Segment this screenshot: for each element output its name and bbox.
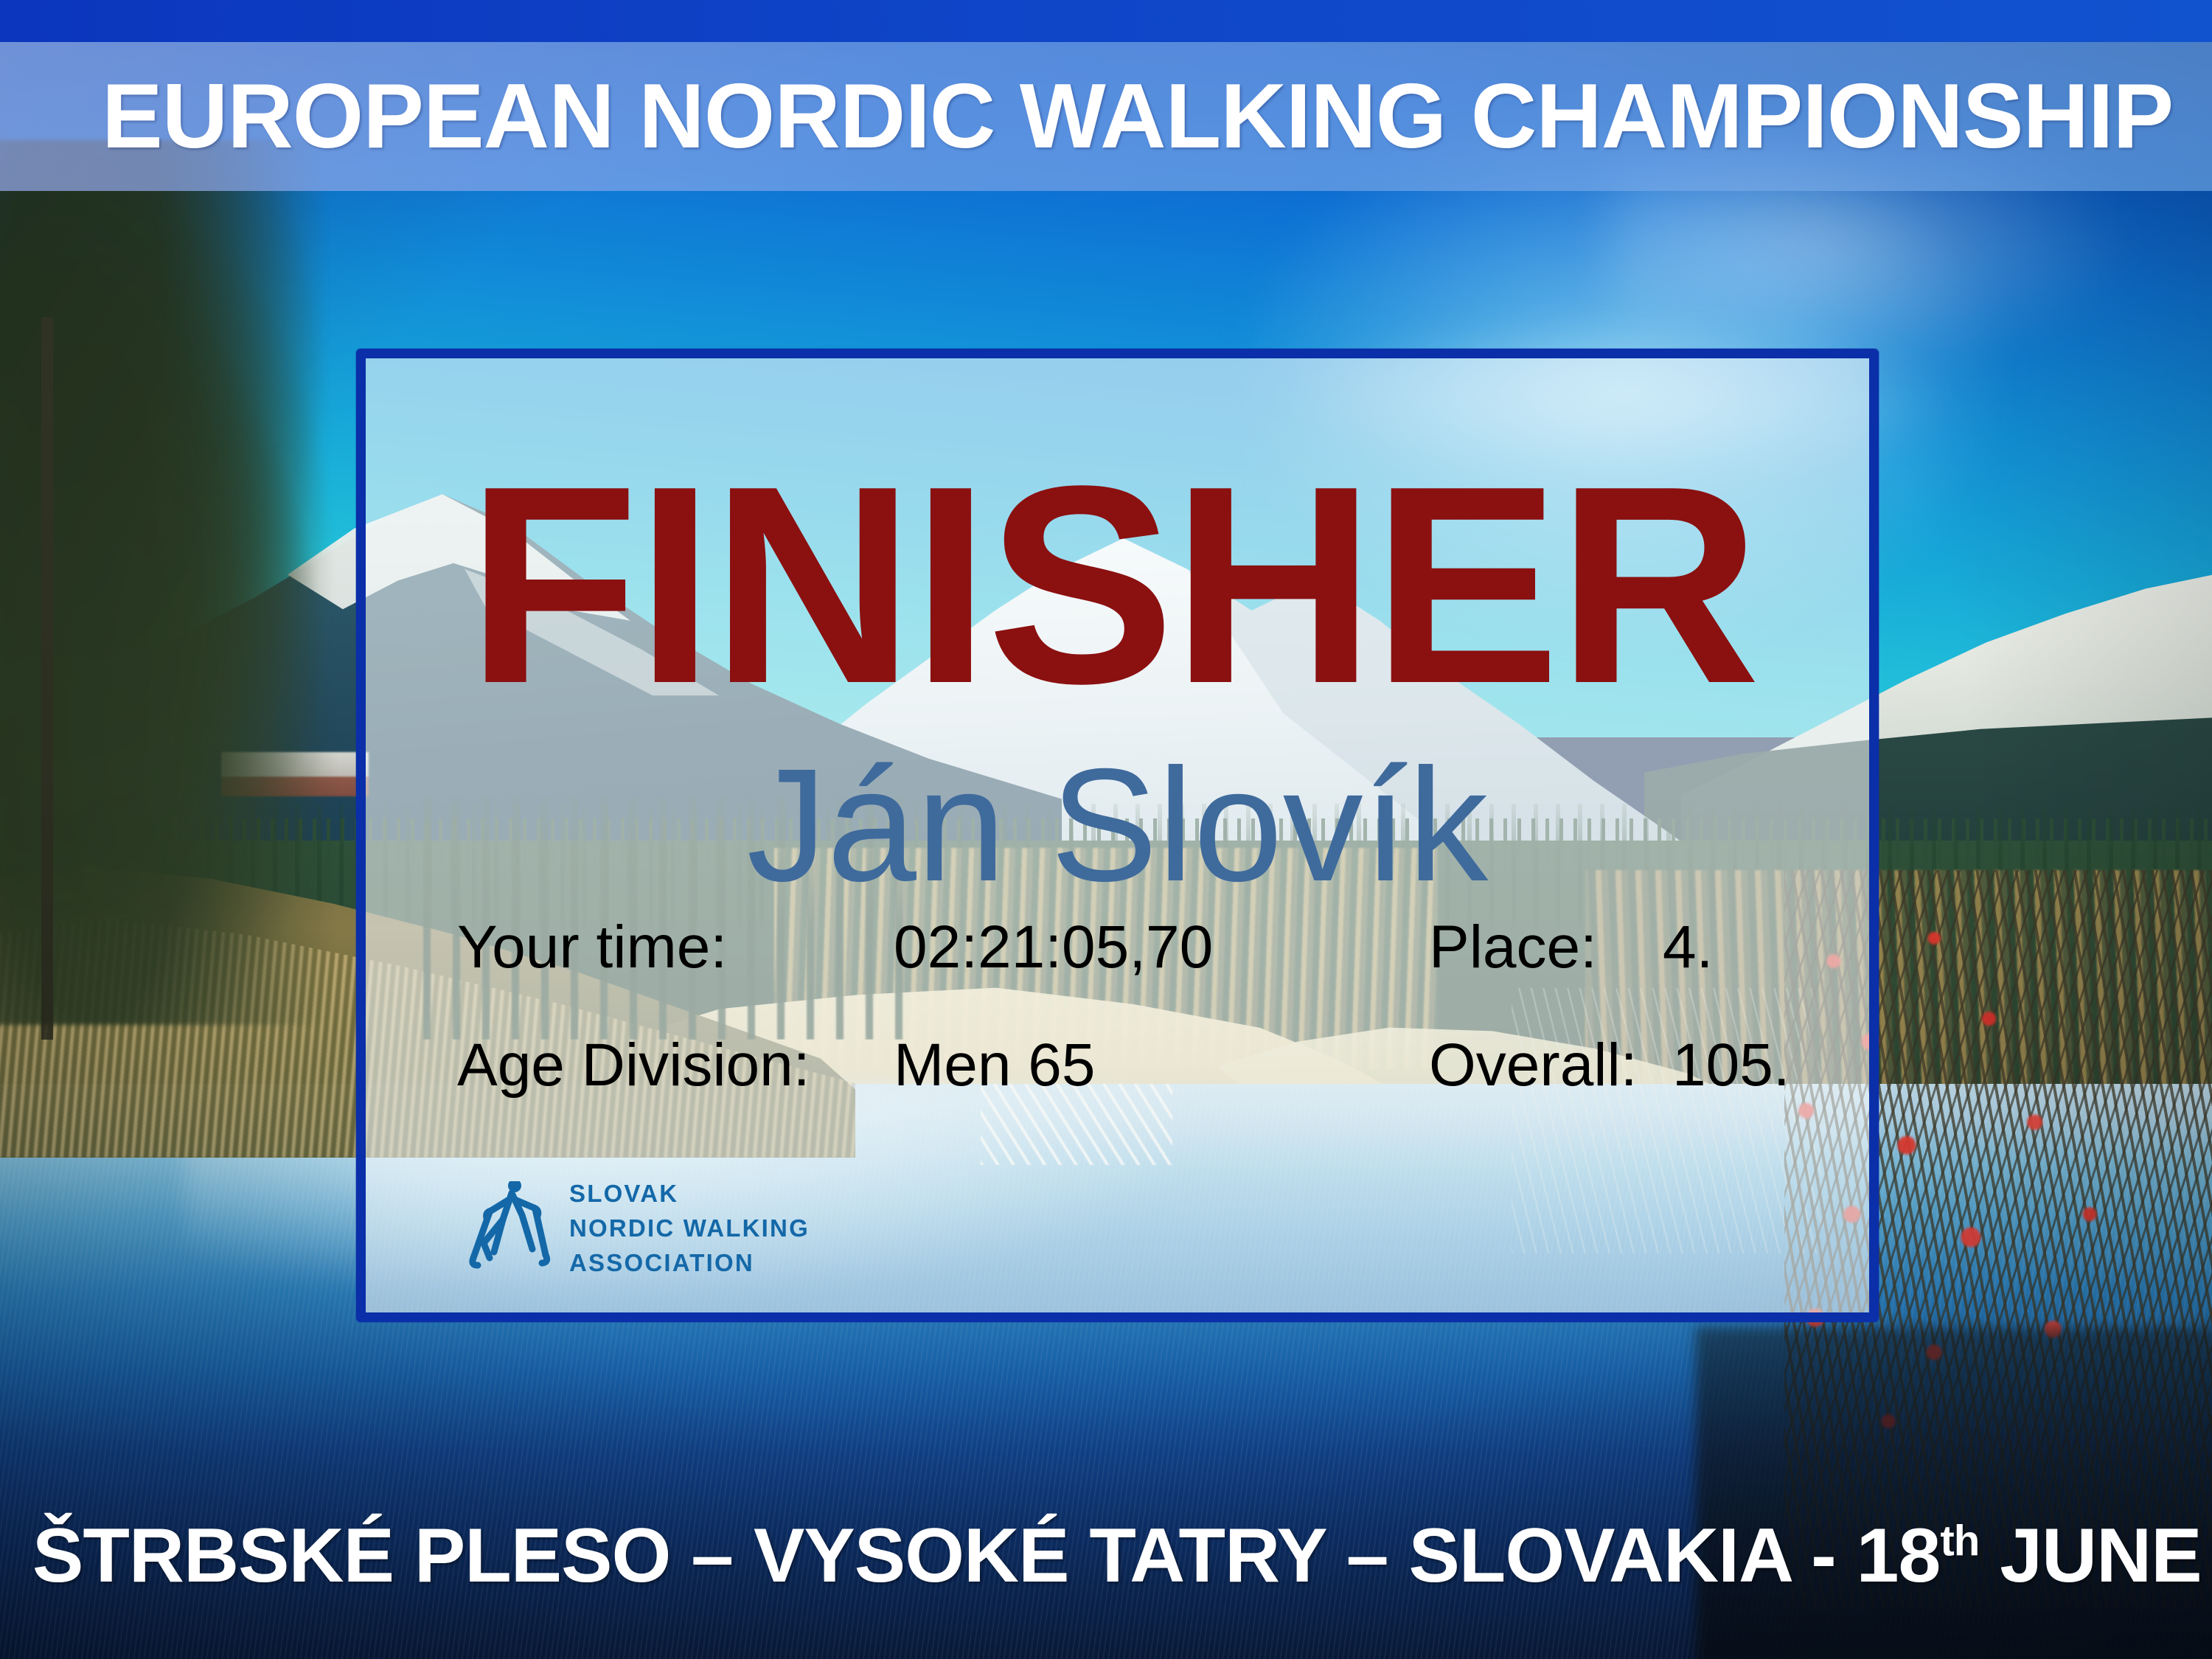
finisher-certificate: EUROPEAN NORDIC WALKING CHAMPIONSHIP FIN… — [0, 0, 2212, 1659]
logo-line-3: ASSOCIATION — [569, 1246, 810, 1281]
footer-date-text: JUNE 2016 — [1979, 1513, 2212, 1599]
footer-banner: ŠTRBSKÉ PLESO – VYSOKÉ TATRY – SLOVAKIA … — [0, 1482, 2212, 1659]
age-division-label: Age Division: — [457, 1035, 810, 1096]
finisher-heading: FINISHER — [467, 444, 1758, 726]
footer-venue-text: ŠTRBSKÉ PLESO – VYSOKÉ TATRY – SLOVAKIA … — [32, 1513, 1940, 1599]
page-title: EUROPEAN NORDIC WALKING CHAMPIONSHIP — [102, 71, 2173, 162]
age-division-value: Men 65 — [894, 1035, 1096, 1096]
header-banner: EUROPEAN NORDIC WALKING CHAMPIONSHIP — [0, 42, 2212, 191]
logo-line-1: SLOVAK — [569, 1177, 810, 1211]
top-accent-strip — [0, 0, 2212, 42]
event-venue-date: ŠTRBSKÉ PLESO – VYSOKÉ TATRY – SLOVAKIA … — [32, 1517, 2212, 1594]
your-time-label: Your time: — [457, 917, 727, 978]
table-row: Your time: 02:21:05,70 Place: 4. — [457, 917, 1840, 1035]
certificate-card: FINISHER Ján Slovík Your time: 02:21:05,… — [356, 349, 1879, 1322]
logo-line-2: NORDIC WALKING — [569, 1211, 810, 1246]
certificate-card-inner: FINISHER Ján Slovík Your time: 02:21:05,… — [366, 358, 1869, 1312]
your-time-value: 02:21:05,70 — [894, 917, 1213, 978]
place-value: 4. — [1663, 917, 1713, 978]
nordic-walker-icon — [469, 1181, 556, 1276]
results-table: Your time: 02:21:05,70 Place: 4. Age Div… — [457, 917, 1840, 1153]
table-row: Age Division: Men 65 Overall: 105. — [457, 1035, 1840, 1153]
logo-wordmark: SLOVAK NORDIC WALKING ASSOCIATION — [569, 1177, 810, 1281]
overall-value: 105. — [1672, 1035, 1790, 1096]
footer-date-ordinal: th — [1940, 1517, 1979, 1565]
slovak-nordic-walking-association-logo: SLOVAK NORDIC WALKING ASSOCIATION — [469, 1177, 810, 1281]
athlete-name: Ján Slovík — [366, 745, 1869, 906]
overall-label: Overall: — [1429, 1035, 1638, 1096]
place-label: Place: — [1429, 917, 1597, 978]
